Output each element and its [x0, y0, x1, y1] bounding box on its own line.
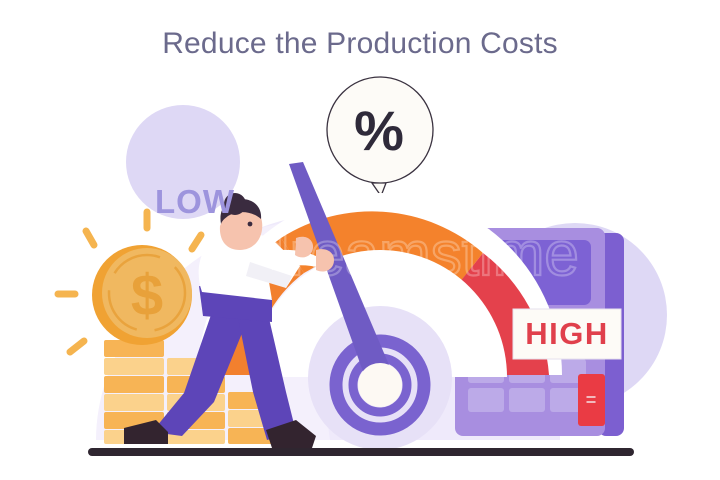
- page-title: Reduce the Production Costs: [162, 27, 558, 60]
- calculator-equals-label: =: [586, 390, 597, 410]
- coin-dollar-symbol: $: [131, 263, 163, 328]
- percent-symbol: %: [354, 99, 404, 162]
- gauge-high-label-box: HIGH: [513, 309, 621, 359]
- gauge-hub-cap: [358, 363, 402, 407]
- gauge-low-label: LOW: [155, 183, 235, 220]
- illustration-canvas: Reduce the Production Costs %: [0, 0, 720, 480]
- calculator-key[interactable]: [509, 388, 545, 412]
- gauge-high-label: HIGH: [525, 316, 609, 351]
- artboard: Reduce the Production Costs %: [0, 0, 720, 480]
- ground-line: [88, 448, 634, 456]
- person-eye: [248, 222, 253, 227]
- calculator-key[interactable]: [468, 388, 504, 412]
